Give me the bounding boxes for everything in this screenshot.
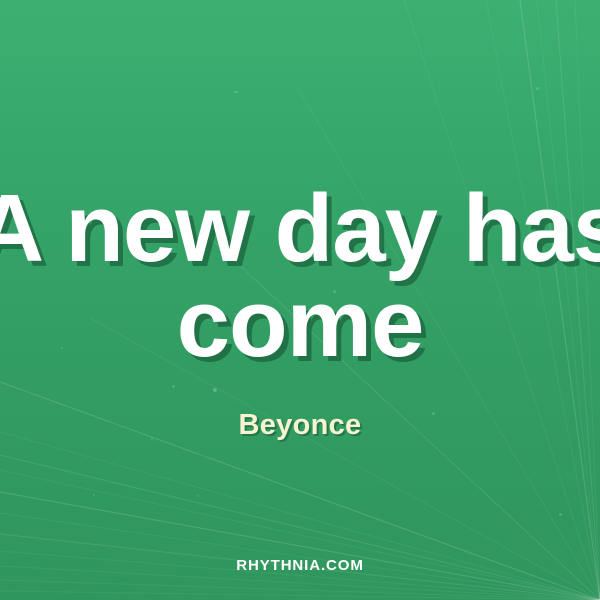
song-title-line-1: A new day has bbox=[0, 181, 600, 276]
site-watermark: RHYTHNIA.COM bbox=[0, 557, 600, 574]
lyric-card: A new day has come Beyonce RHYTHNIA.COM bbox=[0, 0, 600, 600]
song-title: A new day has come bbox=[0, 181, 600, 371]
song-title-line-2: come bbox=[0, 276, 600, 371]
artist-name: Beyonce bbox=[0, 409, 600, 442]
